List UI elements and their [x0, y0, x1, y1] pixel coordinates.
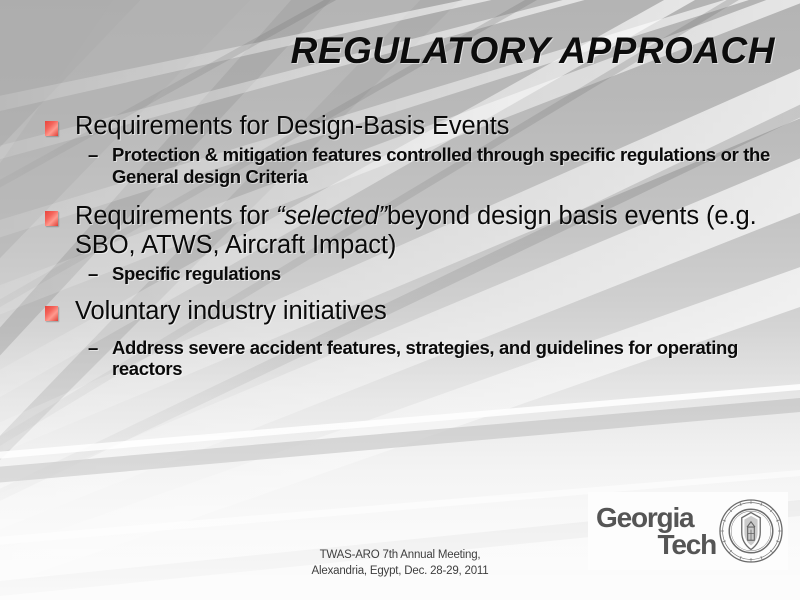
dash-icon: –	[88, 144, 98, 165]
sub-bullet-level2: –Protection & mitigation features contro…	[40, 144, 775, 187]
bullet-square-icon	[45, 211, 58, 226]
sub-bullet-text: Specific regulations	[112, 263, 281, 284]
dash-icon: –	[88, 263, 98, 284]
logo-word-georgia: Georgia	[596, 504, 718, 531]
bullet-level1: Requirements for Design-Basis Events	[40, 112, 775, 141]
sub-bullet-text: Address severe accident features, strate…	[112, 337, 738, 379]
bullet-square-icon	[45, 306, 58, 321]
bullet-text: Requirements for	[75, 202, 276, 230]
bullet-level1: Voluntary industry initiatives	[40, 297, 775, 326]
sub-bullet-level2: –Specific regulations	[40, 263, 775, 284]
logo-word-tech: Tech	[596, 531, 718, 558]
bullet-text: Voluntary industry initiatives	[75, 297, 387, 325]
dash-icon: –	[88, 337, 98, 358]
slide-body: Requirements for Design-Basis Events –Pr…	[40, 112, 775, 386]
georgia-tech-seal-icon	[718, 498, 784, 564]
bullet-square-icon	[45, 121, 58, 136]
bullet-level1: Requirements for “selected”beyond design…	[40, 202, 775, 260]
sub-bullet-text: Protection & mitigation features control…	[112, 144, 770, 186]
bullet-text: Requirements for Design-Basis Events	[75, 112, 509, 140]
bullet-emphasis: “selected”	[276, 202, 387, 230]
slide-title: REGULATORY APPROACH	[40, 30, 775, 72]
presentation-slide: REGULATORY APPROACH Requirements for Des…	[0, 0, 800, 600]
sub-bullet-level2: –Address severe accident features, strat…	[40, 337, 775, 380]
logo-wordmark: Georgia Tech	[596, 504, 718, 559]
georgia-tech-logo: Georgia Tech	[588, 492, 788, 570]
